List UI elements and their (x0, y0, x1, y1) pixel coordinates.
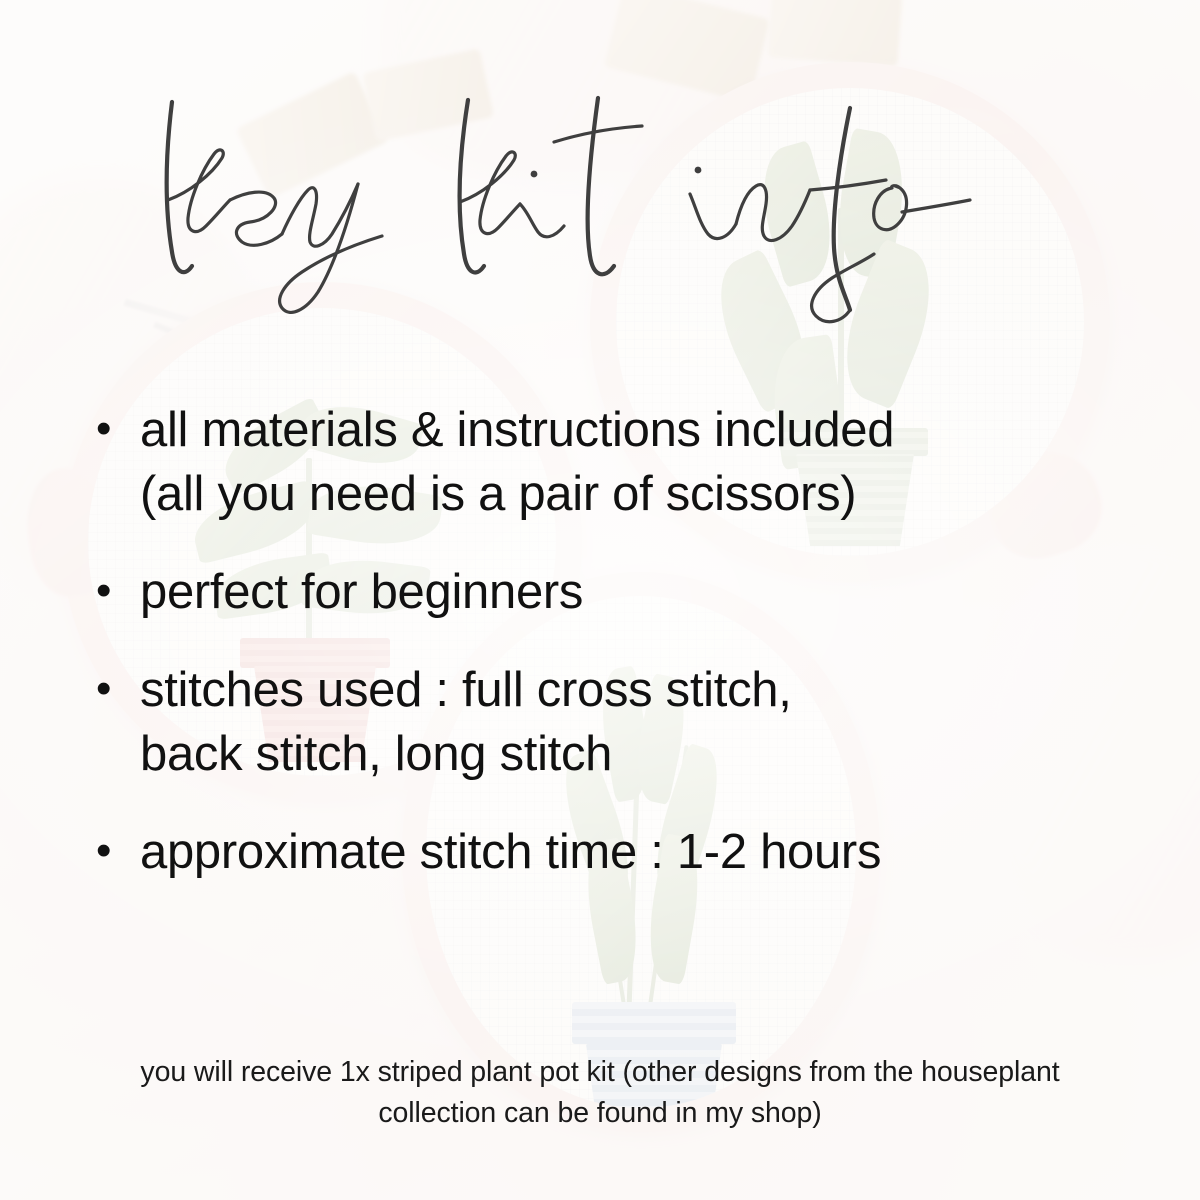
bullet-text: perfect for beginners (140, 560, 1116, 624)
list-item: • perfect for beginners (96, 560, 1116, 624)
content-layer: • all materials & instructions included … (0, 0, 1200, 1200)
footer-note: you will receive 1x striped plant pot ki… (0, 1052, 1200, 1134)
heading-i2-dot (695, 167, 702, 174)
bullet-list: • all materials & instructions included … (96, 398, 1116, 918)
heading-script-svg (150, 96, 1050, 316)
bullet-line-2: (all you need is a pair of scissors) (140, 462, 1116, 526)
list-item: • approximate stitch time : 1-2 hours (96, 820, 1116, 884)
bullet-line-1: all materials & instructions included (140, 403, 894, 457)
footer-line-1: you will receive 1x striped plant pot ki… (0, 1052, 1200, 1093)
kit-info-graphic: • all materials & instructions included … (0, 0, 1200, 1200)
bullet-marker: • (96, 820, 140, 882)
heading-i-dot (531, 171, 538, 178)
bullet-line-1: approximate stitch time : 1-2 hours (140, 825, 881, 879)
bullet-line-1: stitches used : full cross stitch, (140, 663, 792, 717)
bullet-text: approximate stitch time : 1-2 hours (140, 820, 1116, 884)
bullet-marker: • (96, 658, 140, 720)
bullet-text: all materials & instructions included (a… (140, 398, 1116, 526)
bullet-marker: • (96, 398, 140, 460)
list-item: • all materials & instructions included … (96, 398, 1116, 526)
bullet-line-2: back stitch, long stitch (140, 722, 1116, 786)
bullet-marker: • (96, 560, 140, 622)
bullet-text: stitches used : full cross stitch, back … (140, 658, 1116, 786)
bullet-line-1: perfect for beginners (140, 565, 583, 619)
page-title (150, 96, 1050, 316)
list-item: • stitches used : full cross stitch, bac… (96, 658, 1116, 786)
footer-line-2: collection can be found in my shop) (0, 1093, 1200, 1134)
